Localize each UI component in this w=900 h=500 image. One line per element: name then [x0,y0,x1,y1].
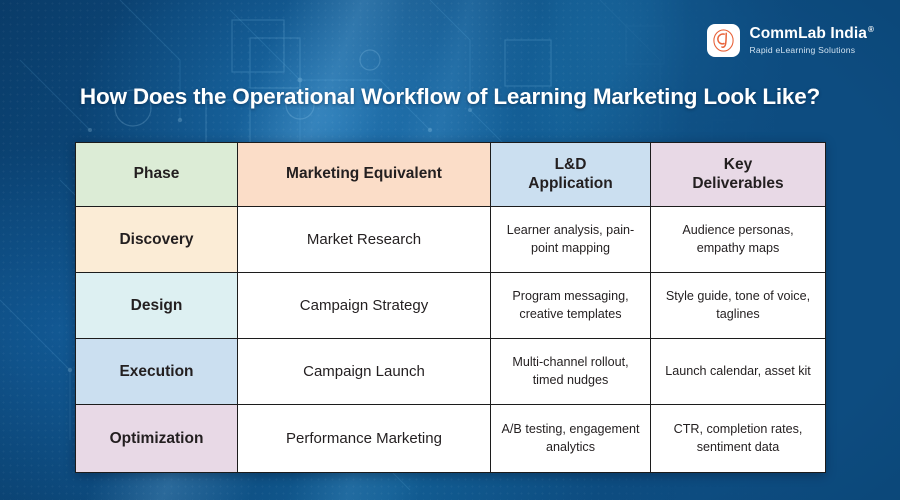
brand-logo-text: CommLab India® Rapid eLearning Solutions [749,26,874,54]
cell-phase: Discovery [76,207,238,273]
cell-marketing-equivalent: Performance Marketing [238,405,491,473]
table-header: Phase Marketing Equivalent L&D Applicati… [76,143,826,207]
cell-phase: Execution [76,339,238,405]
cell-marketing-equivalent: Campaign Launch [238,339,491,405]
table-header-row: Phase Marketing Equivalent L&D Applicati… [76,143,826,207]
commlab-monogram-icon [707,24,740,57]
column-header-key-deliverables: Key Deliverables [651,143,826,207]
column-header-marketing-equivalent: Marketing Equivalent [238,143,491,207]
cl-monogram-glyph [711,28,736,53]
brand-name-text: CommLab India [749,25,867,42]
brand-name: CommLab India® [749,26,874,42]
cell-key-deliverables: Style guide, tone of voice, taglines [651,273,826,339]
column-header-ld-application-line1: L&D [555,156,587,173]
registered-trademark-icon: ® [868,25,874,34]
cell-phase: Optimization [76,405,238,473]
cell-ld-application: Multi-channel rollout, timed nudges [491,339,651,405]
column-header-key-deliverables-line2: Deliverables [692,175,783,192]
workflow-table: Phase Marketing Equivalent L&D Applicati… [75,142,826,473]
cell-ld-application: Program messaging, creative templates [491,273,651,339]
cell-marketing-equivalent: Campaign Strategy [238,273,491,339]
column-header-ld-application: L&D Application [491,143,651,207]
cell-marketing-equivalent: Market Research [238,207,491,273]
cell-ld-application: Learner analysis, pain-point mapping [491,207,651,273]
workflow-table-container: Phase Marketing Equivalent L&D Applicati… [75,142,825,473]
table-body: Discovery Market Research Learner analys… [76,207,826,473]
cell-key-deliverables: Audience personas, empathy maps [651,207,826,273]
cell-key-deliverables: CTR, completion rates, sentiment data [651,405,826,473]
column-header-phase: Phase [76,143,238,207]
cell-ld-application: A/B testing, engagement analytics [491,405,651,473]
column-header-ld-application-line2: Application [528,175,612,192]
brand-tagline: Rapid eLearning Solutions [749,46,874,55]
brand-logo[interactable]: CommLab India® Rapid eLearning Solutions [707,24,874,57]
table-row: Design Campaign Strategy Program messagi… [76,273,826,339]
page-title: How Does the Operational Workflow of Lea… [0,84,900,110]
cell-key-deliverables: Launch calendar, asset kit [651,339,826,405]
table-row: Optimization Performance Marketing A/B t… [76,405,826,473]
table-row: Discovery Market Research Learner analys… [76,207,826,273]
cell-phase: Design [76,273,238,339]
column-header-key-deliverables-line1: Key [724,156,752,173]
table-row: Execution Campaign Launch Multi-channel … [76,339,826,405]
